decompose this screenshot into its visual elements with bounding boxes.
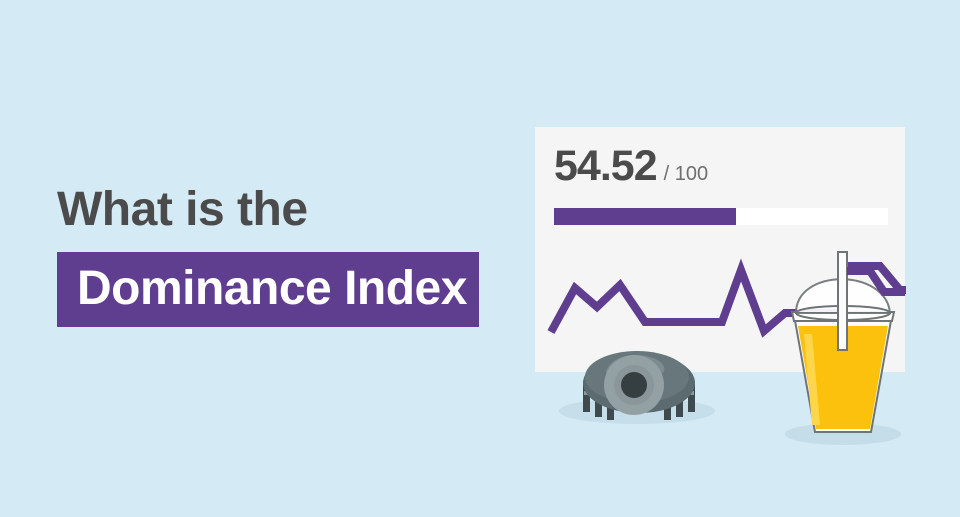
score-value: 54.52 (554, 145, 657, 188)
headline-block: What is the Dominance Index (57, 186, 477, 327)
score-denominator: / 100 (664, 164, 708, 184)
score-progress-fill (554, 208, 736, 225)
headline-highlight-wrapper: Dominance Index (57, 252, 477, 327)
cup-shadow (785, 423, 901, 445)
dominance-index-score-card: 54.52 / 100 (535, 127, 905, 372)
score-row: 54.52 / 100 (554, 145, 708, 188)
robot-lens-inner (621, 372, 647, 398)
robot-left-legs (583, 373, 617, 420)
robot-shadow (559, 398, 715, 424)
infographic-banner: What is the Dominance Index 54.52 / 100 (0, 0, 960, 517)
page-title-line-1: What is the (57, 186, 477, 234)
robot-right-legs (661, 373, 695, 420)
page-title-line-2-highlight: Dominance Index (57, 252, 479, 327)
score-progress-track (554, 208, 888, 225)
